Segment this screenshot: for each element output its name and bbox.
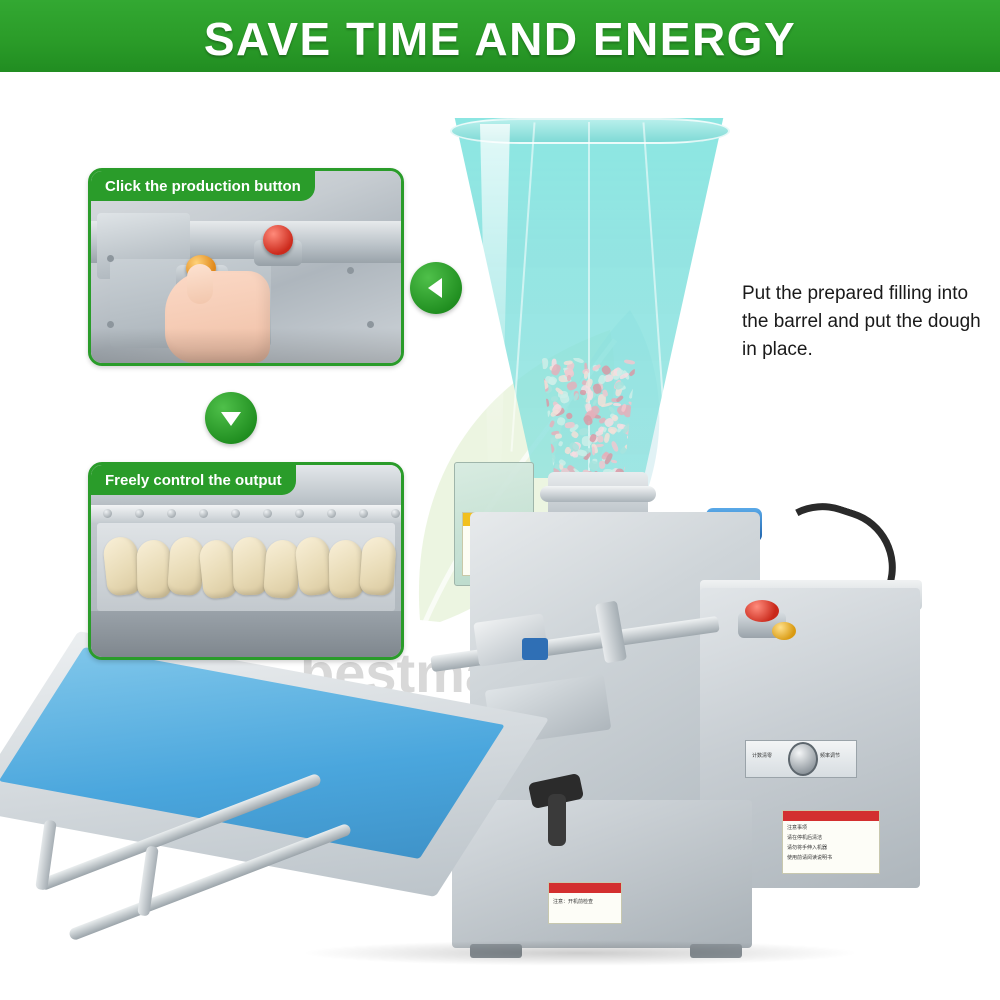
nameplate-line-1: 注意事项 xyxy=(787,825,807,831)
arrow-down-icon xyxy=(205,392,257,444)
tray-screw xyxy=(391,509,400,518)
machine-nameplate: 注意事项 请在停机后清洁 请勿将手伸入机器 使用前请阅读说明书 xyxy=(782,810,880,874)
dumpling xyxy=(263,538,301,598)
tray-screw xyxy=(295,509,304,518)
panel-label-left: 计数清零 xyxy=(752,753,772,759)
arrow-down-glyph xyxy=(219,407,243,429)
callout-card-freely-control-output[interactable]: Freely control the output xyxy=(88,462,404,660)
product-infographic: SAVE TIME AND ENERGY bestmade 警 xyxy=(0,0,1000,1000)
dumpling xyxy=(137,539,172,598)
tray-screw xyxy=(103,509,112,518)
nameplate-line-3: 请勿将手伸入机器 xyxy=(787,845,827,851)
page-title: SAVE TIME AND ENERGY xyxy=(204,12,796,66)
callout-title-2: Freely control the output xyxy=(91,465,296,495)
callout-card-click-production-button[interactable]: Click the production button xyxy=(88,168,404,366)
red-button-photo xyxy=(263,225,293,255)
arrow-left-icon xyxy=(410,262,462,314)
hopper-neck-ring xyxy=(540,486,656,502)
banner-divider xyxy=(0,72,1000,78)
machine-base xyxy=(452,800,752,948)
floor-shadow xyxy=(300,940,860,966)
tray-screw xyxy=(231,509,240,518)
tray-screw xyxy=(199,509,208,518)
machine-lever[interactable] xyxy=(548,794,566,846)
nameplate-header xyxy=(783,811,879,821)
dumpling xyxy=(167,535,205,595)
hopper-highlight xyxy=(480,124,510,464)
tray-screw xyxy=(263,509,272,518)
front-caution-text: 注意：开机前检查 xyxy=(553,899,593,905)
nameplate-line-4: 使用前请阅读说明书 xyxy=(787,855,832,861)
callout-title-1: Click the production button xyxy=(91,171,315,201)
dumpling xyxy=(329,539,364,598)
arm-cylinder xyxy=(595,601,627,664)
tray-screw xyxy=(135,509,144,518)
tray-screw xyxy=(167,509,176,518)
header-banner: SAVE TIME AND ENERGY xyxy=(0,0,1000,78)
front-caution-header xyxy=(549,883,621,893)
tray-screw xyxy=(359,509,368,518)
dumpling xyxy=(359,535,397,595)
annotation-filling-instruction: Put the prepared filling into the barrel… xyxy=(742,280,982,364)
emergency-stop-button[interactable] xyxy=(745,600,779,622)
start-button[interactable] xyxy=(772,622,796,640)
front-caution-label: 注意：开机前检查 xyxy=(548,882,622,924)
finger-photo xyxy=(187,264,213,304)
arrow-left-glyph xyxy=(425,276,447,300)
speed-knob[interactable] xyxy=(788,742,818,776)
dumpling xyxy=(233,536,268,595)
nameplate-line-2: 请在停机后清洁 xyxy=(787,835,822,841)
arm-blue-block xyxy=(522,638,548,660)
panel-label-right: 频率调节 xyxy=(820,753,840,759)
tray-screw xyxy=(327,509,336,518)
hopper-funnel xyxy=(452,118,724,496)
